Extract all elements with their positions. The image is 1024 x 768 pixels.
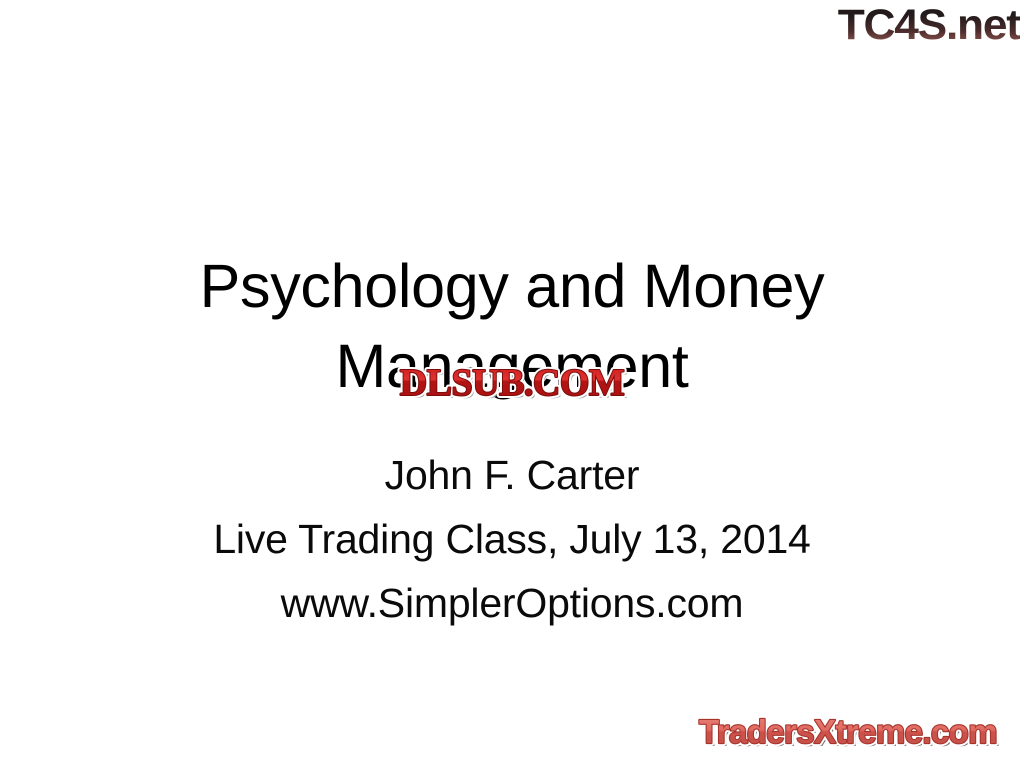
watermark-traders-fill-layer: TradersXtreme.com bbox=[699, 713, 997, 750]
presentation-slide: TC4S.net Psychology and Money Management… bbox=[0, 0, 1024, 768]
subtitle-line-presenter: John F. Carter bbox=[0, 443, 1024, 507]
slide-subtitle-block: John F. Carter Live Trading Class, July … bbox=[0, 443, 1024, 635]
watermark-tradersxtreme-com: TradersXtreme.com TradersXtreme.com Trad… bbox=[676, 710, 1020, 754]
subtitle-line-class-date: Live Trading Class, July 13, 2014 bbox=[0, 507, 1024, 571]
watermark-dlsub-com: DLSUB.COM DLSUB.COM DLSUB.COM DLSUB.COM bbox=[366, 360, 654, 404]
watermark-tradersxtreme-com-graphic: TradersXtreme.com TradersXtreme.com Trad… bbox=[676, 710, 1020, 754]
watermark-tc4s-net: TC4S.net bbox=[838, 2, 1020, 48]
watermark-dlsub-fill-layer: DLSUB.COM bbox=[400, 362, 625, 404]
watermark-dlsub-com-graphic: DLSUB.COM DLSUB.COM DLSUB.COM DLSUB.COM bbox=[366, 360, 654, 404]
subtitle-line-website: www.SimplerOptions.com bbox=[0, 571, 1024, 635]
